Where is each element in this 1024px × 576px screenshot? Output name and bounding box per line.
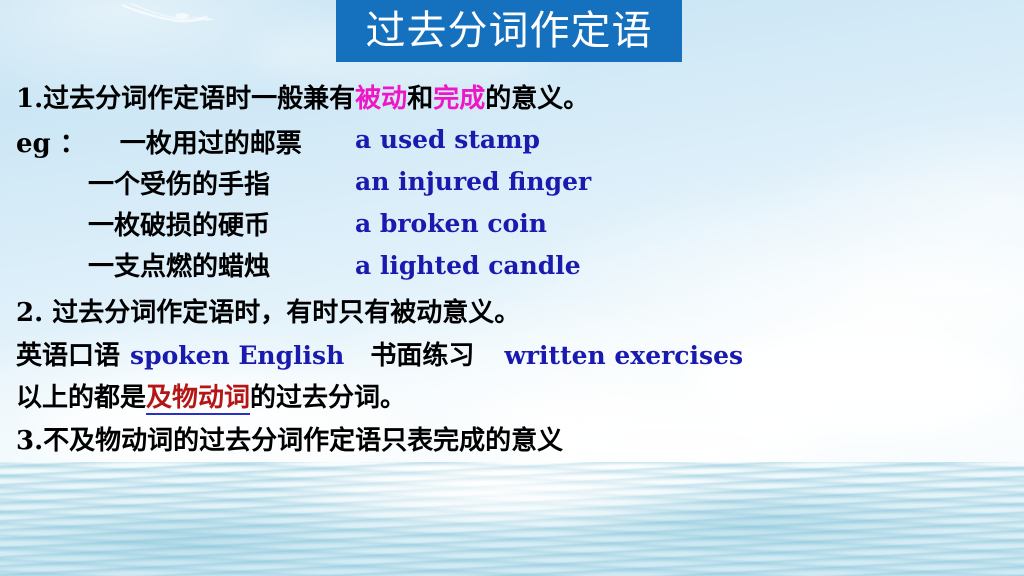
spoken-english-cn: 英语口语: [16, 341, 120, 371]
example-3-cn: 一枚破损的硬币: [88, 213, 270, 239]
example-3-en: a broken coin: [355, 211, 547, 236]
example-2-cn: 一个受伤的手指: [88, 172, 270, 198]
point-2-line: 2. 过去分词作定语时，有时只有被动意义。: [16, 300, 520, 326]
point-1-highlight-completed: 完成: [433, 84, 485, 114]
point-1-text-c: 的意义。: [485, 84, 589, 114]
example-4-cn: 一支点燃的蜡烛: [88, 254, 270, 280]
example-2-en: an injured finger: [355, 169, 591, 194]
summary-text-b: 的过去分词。: [250, 383, 406, 413]
written-exercises-cn: 书面练习: [370, 341, 474, 371]
spoken-english-en: spoken English: [130, 341, 344, 370]
point-1-highlight-passive: 被动: [355, 84, 407, 114]
written-exercises-en: written exercises: [504, 341, 743, 370]
point-1-number: 1.: [16, 84, 43, 114]
slide: 过去分词作定语 1.过去分词作定语时一般兼有被动和完成的意义。 eg ：一枚用过…: [0, 0, 1024, 576]
example-1-en: a used stamp: [355, 127, 540, 152]
eg-label: eg ：: [16, 129, 86, 159]
point-3-number: 3.: [16, 426, 43, 456]
summary-line: 以上的都是及物动词的过去分词。: [16, 385, 406, 411]
point-3-line: 3.不及物动词的过去分词作定语只表完成的意义: [16, 428, 563, 454]
point-2-number: 2.: [16, 298, 43, 328]
slide-content: 1.过去分词作定语时一般兼有被动和完成的意义。 eg ：一枚用过的邮票 一个受伤…: [0, 0, 1024, 576]
point-1-text-a: 过去分词作定语时一般兼有: [43, 84, 355, 114]
point-2-text: 过去分词作定语时，有时只有被动意义。: [43, 298, 520, 328]
example-1-cn: 一枚用过的邮票: [120, 129, 302, 159]
point-1-text-b: 和: [407, 84, 433, 114]
point-1-line: 1.过去分词作定语时一般兼有被动和完成的意义。: [16, 86, 589, 112]
example-row-1: eg ：一枚用过的邮票: [16, 131, 302, 157]
phrase-pairs-line: 英语口语spoken English书面练习written exercises: [16, 343, 743, 369]
summary-highlight-transitive: 及物动词: [146, 383, 250, 415]
summary-text-a: 以上的都是: [16, 383, 146, 413]
example-4-en: a lighted candle: [355, 253, 581, 278]
point-3-text: 不及物动词的过去分词作定语只表完成的意义: [43, 426, 563, 456]
